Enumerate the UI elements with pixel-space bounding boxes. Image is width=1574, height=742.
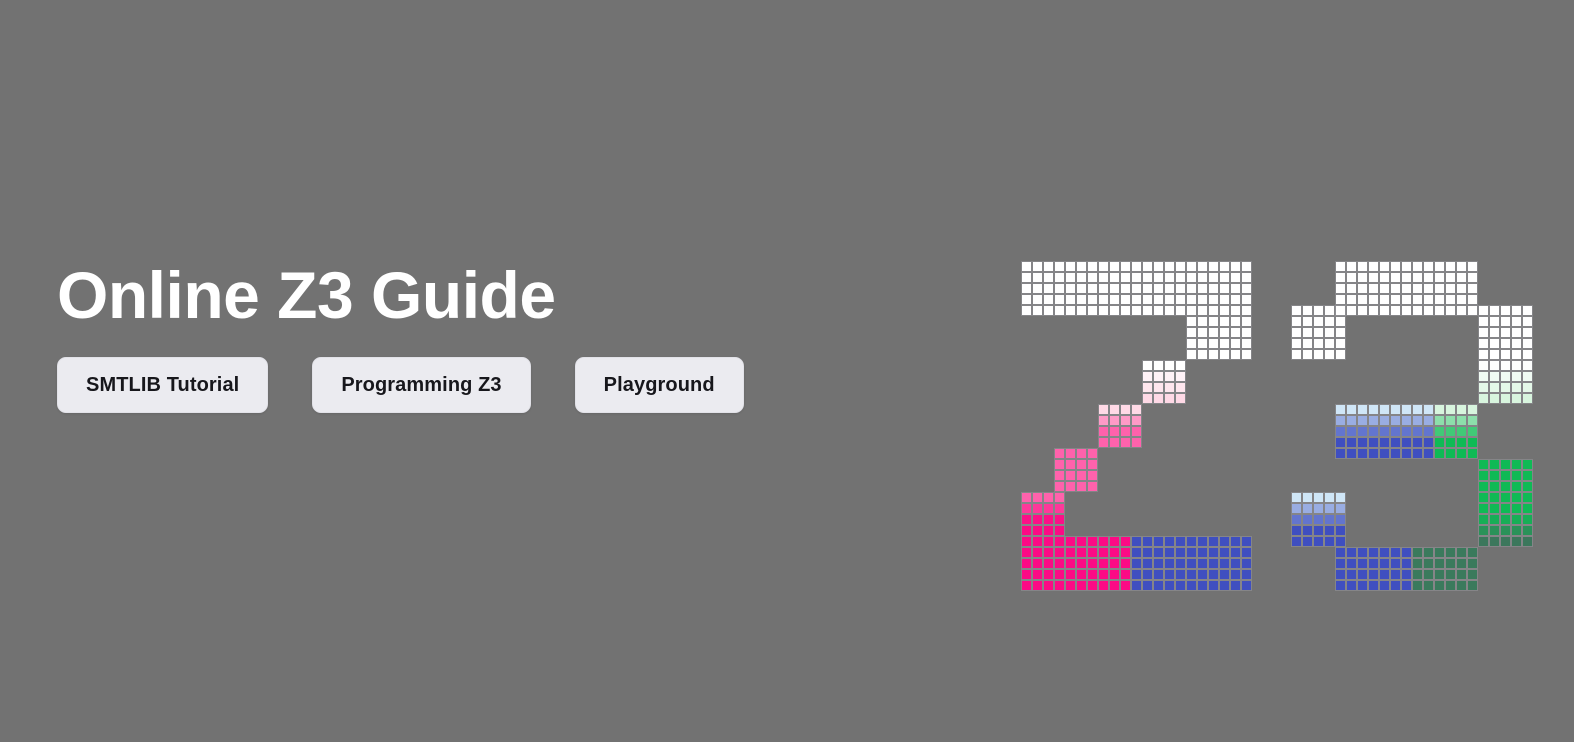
logo-pixel-cell — [1098, 415, 1109, 426]
logo-pixel-cell — [1109, 536, 1120, 547]
logo-pixel-cell — [1335, 415, 1346, 426]
logo-pixel-cell — [1511, 481, 1522, 492]
logo-pixel-cell — [1456, 448, 1467, 459]
logo-pixel-cell — [1368, 558, 1379, 569]
logo-pixel-cell — [1423, 569, 1434, 580]
logo-pixel-cell — [1186, 536, 1197, 547]
logo-pixel-cell — [1467, 294, 1478, 305]
logo-pixel-cell — [1489, 371, 1500, 382]
logo-pixel-cell — [1478, 305, 1489, 316]
logo-pixel-cell — [1175, 558, 1186, 569]
logo-pixel-cell — [1021, 261, 1032, 272]
logo-pixel-cell — [1054, 305, 1065, 316]
logo-pixel-cell — [1043, 558, 1054, 569]
logo-pixel-cell — [1445, 448, 1456, 459]
logo-pixel-cell — [1032, 547, 1043, 558]
logo-pixel-cell — [1065, 547, 1076, 558]
logo-pixel-cell — [1109, 437, 1120, 448]
logo-pixel-cell — [1054, 536, 1065, 547]
logo-pixel-cell — [1313, 503, 1324, 514]
logo-pixel-cell — [1379, 404, 1390, 415]
logo-pixel-cell — [1186, 261, 1197, 272]
logo-pixel-cell — [1335, 536, 1346, 547]
logo-pixel-cell — [1478, 503, 1489, 514]
logo-pixel-cell — [1021, 272, 1032, 283]
logo-pixel-cell — [1302, 492, 1313, 503]
logo-pixel-cell — [1478, 393, 1489, 404]
logo-pixel-cell — [1467, 569, 1478, 580]
logo-pixel-cell — [1087, 448, 1098, 459]
logo-pixel-cell — [1186, 272, 1197, 283]
logo-pixel-cell — [1241, 338, 1252, 349]
logo-pixel-cell — [1208, 283, 1219, 294]
logo-pixel-cell — [1142, 569, 1153, 580]
logo-pixel-cell — [1087, 272, 1098, 283]
logo-pixel-cell — [1109, 426, 1120, 437]
logo-pixel-cell — [1164, 360, 1175, 371]
logo-pixel-cell — [1131, 415, 1142, 426]
logo-pixel-cell — [1291, 525, 1302, 536]
logo-pixel-cell — [1291, 349, 1302, 360]
logo-pixel-cell — [1489, 503, 1500, 514]
logo-pixel-cell — [1065, 283, 1076, 294]
logo-pixel-cell — [1087, 305, 1098, 316]
logo-pixel-cell — [1423, 261, 1434, 272]
logo-pixel-cell — [1230, 305, 1241, 316]
logo-pixel-cell — [1357, 569, 1368, 580]
logo-pixel-cell — [1043, 503, 1054, 514]
logo-pixel-cell — [1076, 580, 1087, 591]
logo-pixel-cell — [1500, 481, 1511, 492]
logo-pixel-cell — [1153, 360, 1164, 371]
logo-pixel-cell — [1065, 470, 1076, 481]
logo-pixel-cell — [1241, 536, 1252, 547]
logo-pixel-cell — [1054, 448, 1065, 459]
logo-pixel-cell — [1208, 569, 1219, 580]
logo-pixel-cell — [1219, 338, 1230, 349]
logo-pixel-cell — [1032, 305, 1043, 316]
logo-pixel-cell — [1032, 503, 1043, 514]
logo-pixel-cell — [1511, 503, 1522, 514]
playground-button[interactable]: Playground — [575, 357, 744, 413]
logo-pixel-cell — [1087, 536, 1098, 547]
logo-pixel-cell — [1054, 272, 1065, 283]
smtlib-tutorial-button[interactable]: SMTLIB Tutorial — [57, 357, 268, 413]
logo-pixel-cell — [1522, 393, 1533, 404]
logo-pixel-cell — [1511, 492, 1522, 503]
logo-pixel-cell — [1021, 580, 1032, 591]
logo-pixel-cell — [1434, 404, 1445, 415]
logo-pixel-cell — [1500, 360, 1511, 371]
logo-pixel-cell — [1164, 371, 1175, 382]
logo-pixel-cell — [1291, 338, 1302, 349]
logo-pixel-cell — [1076, 283, 1087, 294]
logo-pixel-cell — [1021, 492, 1032, 503]
logo-pixel-cell — [1379, 305, 1390, 316]
logo-pixel-cell — [1098, 437, 1109, 448]
logo-pixel-cell — [1412, 426, 1423, 437]
logo-pixel-cell — [1324, 349, 1335, 360]
logo-pixel-cell — [1401, 580, 1412, 591]
logo-pixel-cell — [1186, 580, 1197, 591]
logo-pixel-cell — [1241, 316, 1252, 327]
logo-pixel-cell — [1335, 503, 1346, 514]
logo-pixel-cell — [1500, 492, 1511, 503]
logo-pixel-cell — [1434, 426, 1445, 437]
logo-pixel-cell — [1456, 305, 1467, 316]
logo-pixel-cell — [1197, 316, 1208, 327]
logo-pixel-cell — [1131, 294, 1142, 305]
logo-pixel-cell — [1164, 294, 1175, 305]
logo-pixel-cell — [1368, 415, 1379, 426]
logo-pixel-cell — [1208, 272, 1219, 283]
logo-pixel-cell — [1379, 272, 1390, 283]
logo-pixel-cell — [1324, 327, 1335, 338]
logo-pixel-cell — [1379, 580, 1390, 591]
logo-pixel-cell — [1434, 415, 1445, 426]
logo-pixel-cell — [1065, 481, 1076, 492]
logo-pixel-cell — [1197, 349, 1208, 360]
logo-pixel-cell — [1109, 580, 1120, 591]
logo-pixel-cell — [1511, 514, 1522, 525]
logo-pixel-cell — [1335, 404, 1346, 415]
logo-pixel-cell — [1445, 547, 1456, 558]
logo-pixel-cell — [1522, 360, 1533, 371]
logo-pixel-cell — [1065, 272, 1076, 283]
logo-pixel-cell — [1478, 316, 1489, 327]
logo-pixel-cell — [1368, 261, 1379, 272]
logo-pixel-cell — [1054, 294, 1065, 305]
logo-pixel-cell — [1109, 305, 1120, 316]
logo-pixel-cell — [1230, 316, 1241, 327]
logo-pixel-cell — [1230, 580, 1241, 591]
logo-pixel-cell — [1390, 294, 1401, 305]
logo-pixel-cell — [1142, 261, 1153, 272]
logo-pixel-cell — [1142, 294, 1153, 305]
logo-pixel-cell — [1456, 426, 1467, 437]
logo-pixel-cell — [1197, 558, 1208, 569]
logo-pixel-cell — [1087, 283, 1098, 294]
logo-pixel-cell — [1087, 481, 1098, 492]
logo-pixel-cell — [1500, 382, 1511, 393]
logo-pixel-cell — [1142, 580, 1153, 591]
logo-pixel-cell — [1357, 448, 1368, 459]
logo-pixel-cell — [1522, 371, 1533, 382]
logo-pixel-cell — [1467, 448, 1478, 459]
logo-pixel-cell — [1489, 514, 1500, 525]
logo-pixel-cell — [1401, 305, 1412, 316]
logo-pixel-cell — [1043, 492, 1054, 503]
logo-pixel-cell — [1467, 437, 1478, 448]
logo-pixel-cell — [1511, 536, 1522, 547]
logo-pixel-cell — [1423, 283, 1434, 294]
logo-pixel-cell — [1241, 547, 1252, 558]
logo-pixel-cell — [1076, 261, 1087, 272]
logo-pixel-cell — [1401, 294, 1412, 305]
logo-pixel-cell — [1335, 569, 1346, 580]
logo-pixel-cell — [1065, 580, 1076, 591]
logo-pixel-cell — [1423, 437, 1434, 448]
logo-pixel-cell — [1219, 536, 1230, 547]
logo-pixel-cell — [1032, 558, 1043, 569]
hero-section: Online Z3 Guide SMTLIB Tutorial Programm… — [57, 255, 957, 413]
logo-pixel-cell — [1032, 536, 1043, 547]
logo-pixel-cell — [1456, 404, 1467, 415]
logo-pixel-cell — [1478, 360, 1489, 371]
logo-pixel-cell — [1087, 459, 1098, 470]
logo-pixel-cell — [1456, 558, 1467, 569]
logo-pixel-cell — [1335, 316, 1346, 327]
logo-pixel-cell — [1434, 294, 1445, 305]
logo-pixel-cell — [1142, 360, 1153, 371]
logo-pixel-cell — [1291, 316, 1302, 327]
logo-pixel-cell — [1197, 272, 1208, 283]
logo-pixel-cell — [1186, 305, 1197, 316]
logo-pixel-cell — [1109, 558, 1120, 569]
logo-pixel-cell — [1478, 514, 1489, 525]
page-title: Online Z3 Guide — [57, 255, 957, 335]
logo-pixel-cell — [1131, 283, 1142, 294]
logo-pixel-cell — [1302, 349, 1313, 360]
logo-pixel-cell — [1445, 437, 1456, 448]
logo-pixel-cell — [1500, 316, 1511, 327]
logo-pixel-cell — [1153, 547, 1164, 558]
logo-pixel-cell — [1511, 470, 1522, 481]
logo-pixel-cell — [1412, 261, 1423, 272]
logo-pixel-cell — [1208, 558, 1219, 569]
logo-pixel-cell — [1241, 272, 1252, 283]
logo-pixel-cell — [1500, 338, 1511, 349]
logo-pixel-cell — [1522, 503, 1533, 514]
logo-pixel-cell — [1131, 437, 1142, 448]
logo-pixel-cell — [1434, 261, 1445, 272]
logo-pixel-cell — [1120, 426, 1131, 437]
logo-pixel-cell — [1335, 305, 1346, 316]
logo-pixel-cell — [1335, 558, 1346, 569]
logo-pixel-cell — [1153, 371, 1164, 382]
logo-pixel-cell — [1230, 569, 1241, 580]
logo-pixel-cell — [1489, 382, 1500, 393]
logo-pixel-cell — [1197, 338, 1208, 349]
logo-pixel-cell — [1032, 492, 1043, 503]
logo-pixel-cell — [1131, 404, 1142, 415]
logo-pixel-cell — [1164, 283, 1175, 294]
logo-pixel-cell — [1423, 547, 1434, 558]
logo-pixel-cell — [1522, 316, 1533, 327]
logo-pixel-cell — [1346, 294, 1357, 305]
logo-pixel-cell — [1313, 316, 1324, 327]
logo-pixel-cell — [1175, 305, 1186, 316]
logo-pixel-cell — [1489, 536, 1500, 547]
logo-pixel-cell — [1357, 415, 1368, 426]
logo-pixel-cell — [1302, 305, 1313, 316]
logo-pixel-cell — [1368, 404, 1379, 415]
logo-pixel-cell — [1401, 415, 1412, 426]
logo-pixel-cell — [1120, 272, 1131, 283]
logo-pixel-cell — [1390, 580, 1401, 591]
logo-pixel-cell — [1357, 283, 1368, 294]
logo-pixel-cell — [1065, 261, 1076, 272]
logo-pixel-cell — [1120, 283, 1131, 294]
logo-pixel-cell — [1467, 404, 1478, 415]
logo-pixel-cell — [1208, 349, 1219, 360]
logo-pixel-cell — [1219, 580, 1230, 591]
logo-pixel-cell — [1131, 272, 1142, 283]
logo-pixel-cell — [1054, 481, 1065, 492]
logo-pixel-cell — [1142, 272, 1153, 283]
logo-pixel-cell — [1109, 404, 1120, 415]
programming-z3-button[interactable]: Programming Z3 — [312, 357, 530, 413]
logo-pixel-cell — [1511, 371, 1522, 382]
logo-pixel-cell — [1467, 547, 1478, 558]
logo-pixel-cell — [1153, 283, 1164, 294]
logo-pixel-cell — [1511, 382, 1522, 393]
logo-pixel-cell — [1076, 305, 1087, 316]
logo-pixel-cell — [1368, 437, 1379, 448]
logo-pixel-cell — [1368, 547, 1379, 558]
logo-pixel-cell — [1208, 316, 1219, 327]
logo-pixel-cell — [1379, 569, 1390, 580]
logo-pixel-cell — [1313, 492, 1324, 503]
logo-pixel-cell — [1120, 536, 1131, 547]
logo-pixel-cell — [1043, 547, 1054, 558]
logo-pixel-cell — [1500, 459, 1511, 470]
logo-pixel-cell — [1511, 393, 1522, 404]
logo-pixel-cell — [1445, 580, 1456, 591]
logo-pixel-cell — [1478, 338, 1489, 349]
logo-pixel-cell — [1032, 261, 1043, 272]
logo-pixel-cell — [1522, 525, 1533, 536]
logo-pixel-cell — [1230, 272, 1241, 283]
logo-pixel-cell — [1153, 305, 1164, 316]
logo-pixel-cell — [1489, 316, 1500, 327]
logo-pixel-cell — [1313, 338, 1324, 349]
logo-pixel-cell — [1412, 283, 1423, 294]
logo-pixel-cell — [1335, 547, 1346, 558]
logo-pixel-cell — [1346, 558, 1357, 569]
logo-pixel-cell — [1032, 272, 1043, 283]
logo-pixel-cell — [1335, 349, 1346, 360]
logo-pixel-cell — [1401, 547, 1412, 558]
logo-pixel-cell — [1291, 492, 1302, 503]
logo-pixel-cell — [1335, 272, 1346, 283]
logo-pixel-cell — [1456, 272, 1467, 283]
logo-pixel-cell — [1456, 437, 1467, 448]
logo-pixel-cell — [1390, 404, 1401, 415]
logo-pixel-cell — [1054, 261, 1065, 272]
logo-pixel-cell — [1368, 569, 1379, 580]
logo-pixel-cell — [1335, 327, 1346, 338]
logo-pixel-cell — [1302, 514, 1313, 525]
logo-pixel-cell — [1335, 261, 1346, 272]
logo-pixel-cell — [1522, 481, 1533, 492]
logo-pixel-cell — [1131, 261, 1142, 272]
logo-pixel-cell — [1043, 283, 1054, 294]
logo-pixel-cell — [1478, 371, 1489, 382]
logo-pixel-cell — [1302, 503, 1313, 514]
logo-pixel-cell — [1054, 547, 1065, 558]
logo-pixel-cell — [1219, 569, 1230, 580]
logo-pixel-cell — [1511, 338, 1522, 349]
logo-pixel-cell — [1164, 305, 1175, 316]
logo-pixel-cell — [1120, 580, 1131, 591]
logo-pixel-cell — [1175, 294, 1186, 305]
logo-pixel-cell — [1043, 569, 1054, 580]
logo-pixel-cell — [1109, 547, 1120, 558]
logo-pixel-cell — [1120, 404, 1131, 415]
logo-pixel-cell — [1241, 349, 1252, 360]
logo-pixel-cell — [1186, 547, 1197, 558]
logo-pixel-cell — [1324, 338, 1335, 349]
logo-pixel-cell — [1401, 404, 1412, 415]
logo-pixel-cell — [1065, 448, 1076, 459]
logo-pixel-cell — [1021, 283, 1032, 294]
logo-pixel-cell — [1186, 338, 1197, 349]
logo-pixel-cell — [1109, 272, 1120, 283]
logo-pixel-cell — [1098, 580, 1109, 591]
logo-pixel-cell — [1390, 305, 1401, 316]
logo-pixel-cell — [1219, 305, 1230, 316]
logo-pixel-cell — [1109, 283, 1120, 294]
logo-pixel-cell — [1357, 404, 1368, 415]
logo-pixel-cell — [1175, 272, 1186, 283]
logo-pixel-cell — [1434, 448, 1445, 459]
logo-pixel-cell — [1346, 305, 1357, 316]
logo-pixel-cell — [1313, 349, 1324, 360]
logo-pixel-cell — [1175, 547, 1186, 558]
logo-pixel-cell — [1175, 371, 1186, 382]
logo-pixel-cell — [1456, 580, 1467, 591]
logo-pixel-cell — [1153, 536, 1164, 547]
logo-pixel-cell — [1522, 338, 1533, 349]
logo-pixel-cell — [1478, 470, 1489, 481]
logo-pixel-cell — [1467, 558, 1478, 569]
logo-pixel-cell — [1087, 547, 1098, 558]
logo-pixel-cell — [1120, 415, 1131, 426]
logo-pixel-cell — [1120, 305, 1131, 316]
logo-pixel-cell — [1164, 272, 1175, 283]
logo-pixel-cell — [1368, 272, 1379, 283]
logo-pixel-cell — [1241, 294, 1252, 305]
logo-pixel-cell — [1478, 349, 1489, 360]
logo-pixel-cell — [1230, 558, 1241, 569]
logo-pixel-cell — [1219, 316, 1230, 327]
logo-pixel-cell — [1208, 305, 1219, 316]
logo-pixel-cell — [1346, 415, 1357, 426]
logo-pixel-cell — [1021, 514, 1032, 525]
logo-pixel-cell — [1379, 415, 1390, 426]
logo-pixel-cell — [1120, 547, 1131, 558]
logo-pixel-cell — [1412, 294, 1423, 305]
logo-pixel-cell — [1043, 294, 1054, 305]
logo-pixel-cell — [1186, 294, 1197, 305]
logo-pixel-cell — [1032, 514, 1043, 525]
logo-pixel-cell — [1109, 294, 1120, 305]
logo-pixel-cell — [1324, 305, 1335, 316]
logo-pixel-cell — [1335, 426, 1346, 437]
logo-pixel-cell — [1368, 294, 1379, 305]
logo-pixel-cell — [1208, 580, 1219, 591]
logo-pixel-cell — [1219, 272, 1230, 283]
logo-pixel-cell — [1379, 294, 1390, 305]
logo-pixel-cell — [1208, 547, 1219, 558]
logo-pixel-cell — [1467, 415, 1478, 426]
logo-pixel-cell — [1324, 536, 1335, 547]
logo-pixel-cell — [1456, 569, 1467, 580]
logo-pixel-cell — [1313, 305, 1324, 316]
logo-pixel-cell — [1120, 437, 1131, 448]
logo-pixel-cell — [1445, 305, 1456, 316]
